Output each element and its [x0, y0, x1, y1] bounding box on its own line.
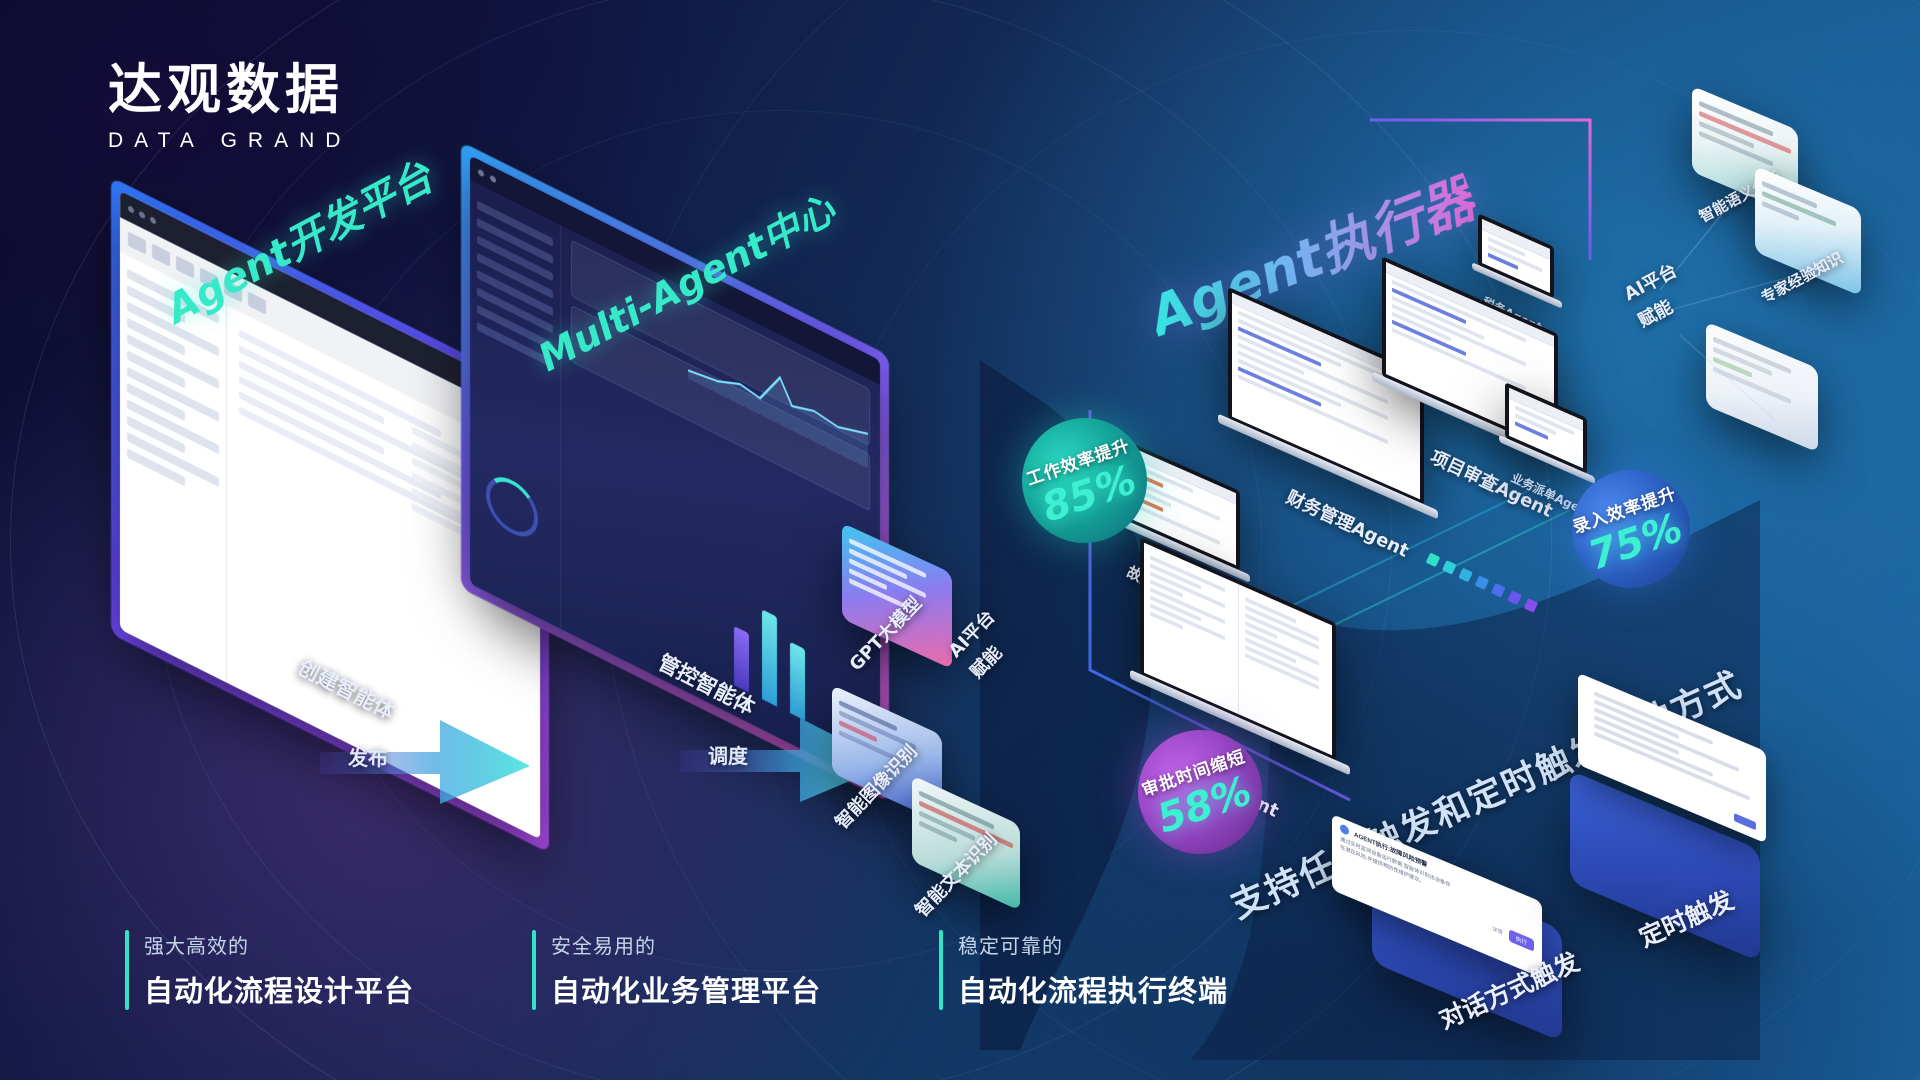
bottom-captions: 强大高效的 自动化流程设计平台 安全易用的 自动化业务管理平台 稳定可靠的 自动…: [125, 930, 1228, 1010]
caption-subtitle: 强大高效的: [144, 930, 414, 959]
status-dot: [1426, 553, 1441, 568]
stat-bubble-approval-time: 审批时间缩短 58%: [1121, 713, 1279, 871]
brand-name-en: DATA GRAND: [108, 129, 351, 153]
chat-card-line2: 在潜在风险,并提供预防性维护建议。: [1340, 844, 1534, 933]
status-dot-strip: [1426, 553, 1538, 613]
brand-logo: 达观数据 DATA GRAND: [108, 62, 351, 153]
brand-name-cn: 达观数据: [108, 62, 351, 119]
right-card-knowledge-graph[interactable]: [1706, 321, 1818, 452]
caption-subtitle: 安全易用的: [551, 930, 821, 959]
timer-card-submit-button[interactable]: [1734, 813, 1756, 830]
titlebar-dot: [150, 216, 156, 225]
card-line: [1699, 111, 1791, 155]
ai-platform-empower-left: AI平台 赋能: [942, 604, 1022, 684]
status-dot: [1491, 583, 1506, 598]
caption-accent-bar: [532, 930, 536, 1010]
flow-arrow-publish: 发布: [320, 700, 540, 815]
caption-item: 强大高效的 自动化流程设计平台: [125, 930, 414, 1010]
caption-title: 自动化业务管理平台: [551, 968, 821, 1010]
ui-row: [1150, 603, 1225, 640]
titlebar-dot: [478, 168, 484, 177]
agent-avatar-icon: [1340, 823, 1349, 836]
caption-item: 安全易用的 自动化业务管理平台: [532, 930, 821, 1010]
flow-arrow-publish-label: 发布: [348, 742, 388, 771]
status-dot: [1475, 575, 1490, 590]
chat-card-link-detail[interactable]: 详情: [1492, 924, 1503, 937]
status-dot: [1458, 568, 1473, 583]
canvas-row: [239, 391, 441, 499]
caption-accent-bar: [125, 930, 129, 1010]
flow-arrow-dispatch-label: 调度: [708, 740, 748, 769]
ai-platform-empower-right: AI平台 赋能: [1619, 257, 1695, 333]
titlebar-dot: [128, 205, 134, 214]
caption-item: 稳定可靠的 自动化流程执行终端: [939, 930, 1228, 1010]
infographic-canvas: 达观数据 DATA GRAND: [0, 0, 1920, 1080]
caption-accent-bar: [939, 930, 943, 1010]
toolbar-chip: [128, 231, 146, 254]
caption-title: 自动化流程执行终端: [958, 968, 1228, 1010]
status-dot: [1507, 591, 1522, 606]
status-dot: [1442, 560, 1457, 575]
card-content: [1706, 321, 1818, 452]
status-dot: [1524, 598, 1539, 613]
titlebar-dot: [490, 174, 496, 183]
caption-title: 自动化流程设计平台: [144, 968, 414, 1010]
ui-row: [1245, 645, 1320, 682]
toolbar-chip: [152, 243, 170, 266]
titlebar-dot: [139, 210, 145, 219]
card-line: [1713, 366, 1791, 404]
dashboard-sidebar: [470, 180, 561, 629]
bar: [762, 609, 777, 706]
stat-bubble-efficiency: 工作效率提升 85%: [1005, 401, 1164, 560]
caption-subtitle: 稳定可靠的: [958, 930, 1228, 959]
